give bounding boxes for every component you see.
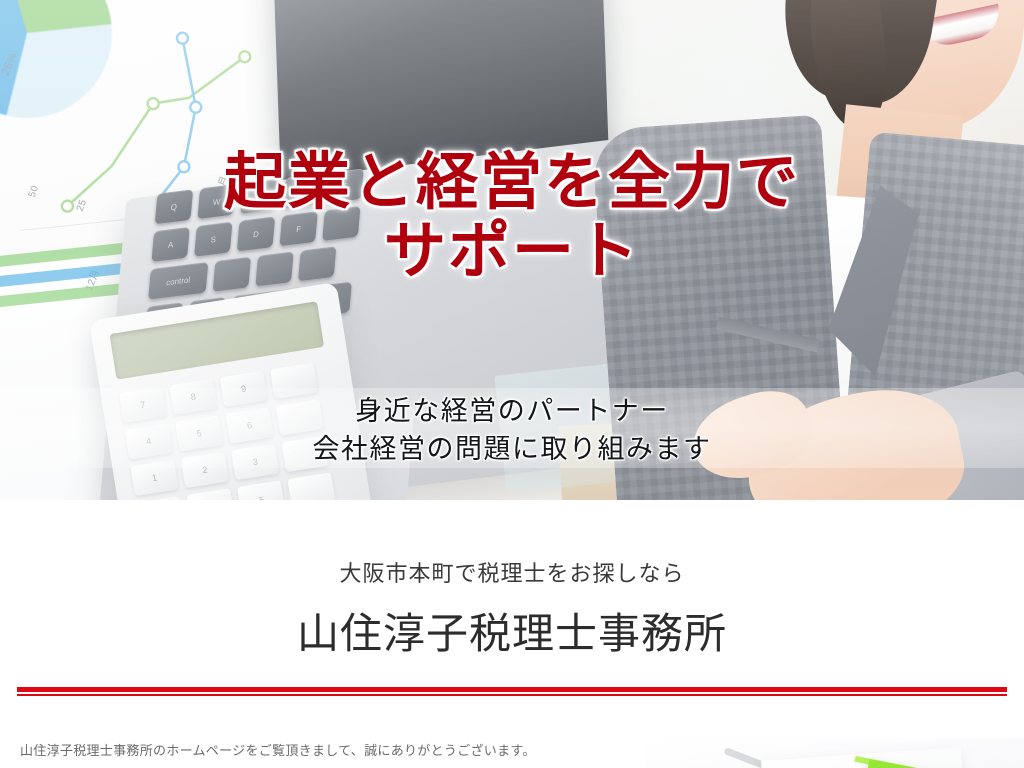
intro-paragraph-1: 山住淳子税理士事務所のホームページをご覧頂きまして、誠にありがとうございます。 [20, 738, 621, 764]
hero-banner: 26% 50 25 0 3月 6月 12月 [0, 0, 1024, 500]
hero-headline: 起業と経営を全力で サポート [0, 152, 1024, 284]
hero-subtitle-line1: 身近な経営のパートナー [355, 396, 669, 426]
hero-subtitle: 身近な経営のパートナー 会社経営の問題に取り組みます [0, 392, 1024, 469]
content-section: 山住淳子税理士事務所のホームページをご覧頂きまして、誠にありがとうございます。 … [0, 738, 1024, 768]
hero-headline-line2: サポート [0, 221, 1024, 284]
page-title: 山住淳子税理士事務所 [0, 600, 1024, 661]
red-divider [0, 687, 1024, 696]
divider-thin-line [17, 694, 1007, 696]
hero-subtitle-line2: 会社経営の問題に取り組みます [313, 434, 712, 464]
intro-lead-text: 大阪市本町で税理士をお探しなら [0, 556, 1024, 588]
content-text-column: 山住淳子税理士事務所のホームページをご覧頂きまして、誠にありがとうございます。 … [0, 738, 645, 768]
hero-headline-line1: 起業と経営を全力で [224, 149, 800, 217]
page-root: 26% 50 25 0 3月 6月 12月 [0, 0, 1024, 768]
content-photo [645, 738, 1024, 768]
intro-section: 大阪市本町で税理士をお探しなら 山住淳子税理士事務所 [0, 500, 1024, 696]
